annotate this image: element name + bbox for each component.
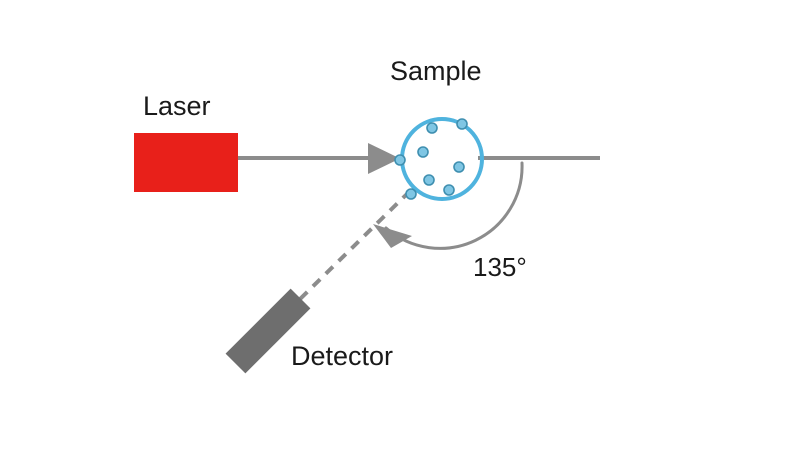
detector-label: Detector [291,341,393,371]
particle [457,119,467,129]
particle [427,123,437,133]
scattering-angle-label: 135° [473,252,527,282]
sample-label: Sample [390,56,482,86]
laser-source-box [134,133,238,192]
particle [418,147,428,157]
particle [395,155,405,165]
diagram-canvas: Laser Sample Detector 135° [0,0,800,452]
scattering-angle-arrowhead [373,224,412,248]
sample-particles [395,119,467,199]
particle [406,189,416,199]
dls-diagram: Laser Sample Detector 135° [0,0,800,452]
sample-circle [402,119,482,199]
particle [444,185,454,195]
particle [424,175,434,185]
particle [454,162,464,172]
laser-label: Laser [143,91,211,121]
